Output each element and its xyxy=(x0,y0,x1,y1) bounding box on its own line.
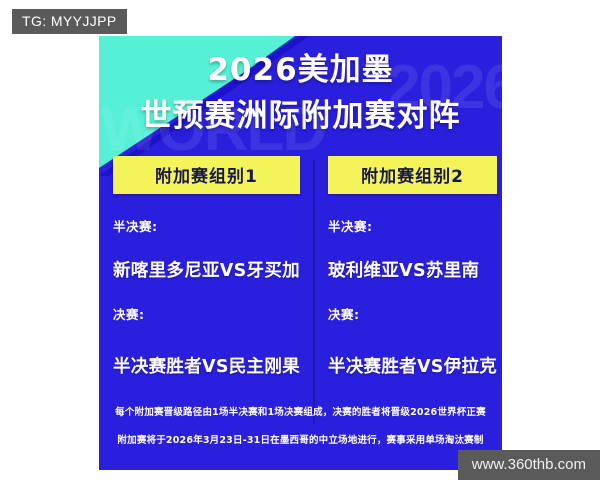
group-2-semifinal-match: 玻利维亚VS苏里南 xyxy=(328,257,497,282)
poster-footer-notes: 每个附加赛晋级路径由1场半决赛和1场决赛组成，决赛的胜者将晋级2026世界杯正赛… xyxy=(99,407,502,446)
bracket-columns: 附加赛组别1 半决赛: 新喀里多尼亚VS牙买加 决赛: 半决赛胜者VS民主刚果 … xyxy=(99,156,502,396)
site-watermark: www.360thb.com xyxy=(458,450,600,480)
group-1-final-match: 半决赛胜者VS民主刚果 xyxy=(113,353,300,378)
poster-title-block: 2026美加墨 世预赛洲际附加赛对阵 xyxy=(99,52,502,135)
footer-note-1: 每个附加赛晋级路径由1场半决赛和1场决赛组成，决赛的胜者将晋级2026世界杯正赛 xyxy=(99,407,502,418)
footer-note-2: 附加赛将于2026年3月23日-31日在墨西哥的中立场地进行，赛事采用单场淘汰赛… xyxy=(99,435,502,446)
group-1-final-label: 决赛: xyxy=(113,304,300,323)
playoff-group-1: 附加赛组别1 半决赛: 新喀里多尼亚VS牙买加 决赛: 半决赛胜者VS民主刚果 xyxy=(99,156,314,396)
title-line-1: 2026美加墨 xyxy=(99,52,502,89)
group-2-semifinal-label: 半决赛: xyxy=(328,216,497,235)
group-1-semifinal-match: 新喀里多尼亚VS牙买加 xyxy=(113,257,300,282)
group-2-final-match: 半决赛胜者VS伊拉克 xyxy=(328,353,497,378)
poster-image: WORLD 2026 2026美加墨 世预赛洲际附加赛对阵 附加赛组别1 半决赛… xyxy=(99,36,502,470)
group-2-final-label: 决赛: xyxy=(328,304,497,323)
playoff-group-2: 附加赛组别2 半决赛: 玻利维亚VS苏里南 决赛: 半决赛胜者VS伊拉克 xyxy=(314,156,502,396)
tg-handle-badge: TG: MYYJJPP xyxy=(12,9,127,34)
group-2-header: 附加赛组别2 xyxy=(328,156,497,194)
group-1-semifinal-label: 半决赛: xyxy=(113,216,300,235)
title-line-2: 世预赛洲际附加赛对阵 xyxy=(99,98,502,135)
group-1-header: 附加赛组别1 xyxy=(113,156,300,194)
